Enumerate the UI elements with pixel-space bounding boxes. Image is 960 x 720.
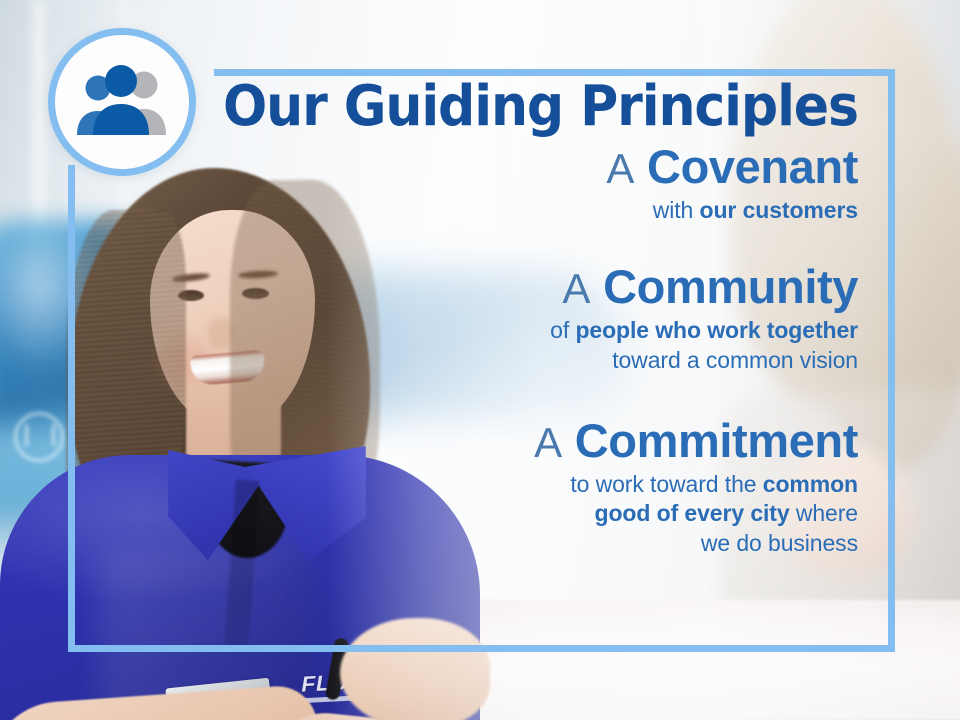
principle-subtext: of people who work togethertoward a comm… xyxy=(200,316,858,375)
principle-subtext: to work toward the commongood of every c… xyxy=(458,470,858,558)
employee-clasped-hands xyxy=(340,618,490,720)
frame-border-left xyxy=(68,165,75,652)
principle-word: Commitment xyxy=(575,414,858,467)
plain-text: we do business xyxy=(701,530,858,556)
plain-text: where xyxy=(790,500,858,526)
principle-word: Community xyxy=(603,260,858,313)
guiding-principles-graphic: FLOW FLOW Automotive xyxy=(0,0,960,720)
plain-text: to work toward the xyxy=(570,471,762,497)
principle-article: A xyxy=(534,419,562,466)
principle-subtext-line: toward a common vision xyxy=(200,346,858,375)
principle-subtext-line: we do business xyxy=(458,529,858,558)
principle-commitment: A Commitment to work toward the commongo… xyxy=(200,417,858,558)
principle-heading: A Community xyxy=(200,263,858,312)
emphasis-text: common xyxy=(763,471,858,497)
emphasis-text: our customers xyxy=(700,197,858,223)
principle-subtext-line: with our customers xyxy=(200,196,858,225)
page-title: Our Guiding Principles xyxy=(223,78,835,135)
principle-article: A xyxy=(562,265,590,312)
principle-subtext-line: to work toward the common xyxy=(458,470,858,499)
principle-subtext-line: of people who work together xyxy=(200,316,858,345)
people-group-icon xyxy=(70,65,174,139)
blurred-brand-logo-icon xyxy=(14,412,64,462)
principle-heading: A Commitment xyxy=(200,417,858,466)
plain-text: of xyxy=(550,317,575,343)
frame-border-bottom xyxy=(68,645,895,652)
principle-word: Covenant xyxy=(647,140,858,193)
people-group-badge xyxy=(48,28,196,176)
emphasis-text: people who work together xyxy=(575,317,858,343)
plain-text: with xyxy=(653,197,700,223)
principle-community: A Community of people who work togethert… xyxy=(200,263,858,375)
principle-subtext-line: good of every city where xyxy=(458,499,858,528)
principle-heading: A Covenant xyxy=(200,143,858,192)
emphasis-text: good of every city xyxy=(595,500,790,526)
principle-subtext: with our customers xyxy=(200,196,858,225)
plain-text: toward a common vision xyxy=(612,347,858,373)
text-content: Our Guiding Principles A Covenant with o… xyxy=(200,78,900,558)
principle-article: A xyxy=(606,145,634,192)
principle-covenant: A Covenant with our customers xyxy=(200,143,858,225)
